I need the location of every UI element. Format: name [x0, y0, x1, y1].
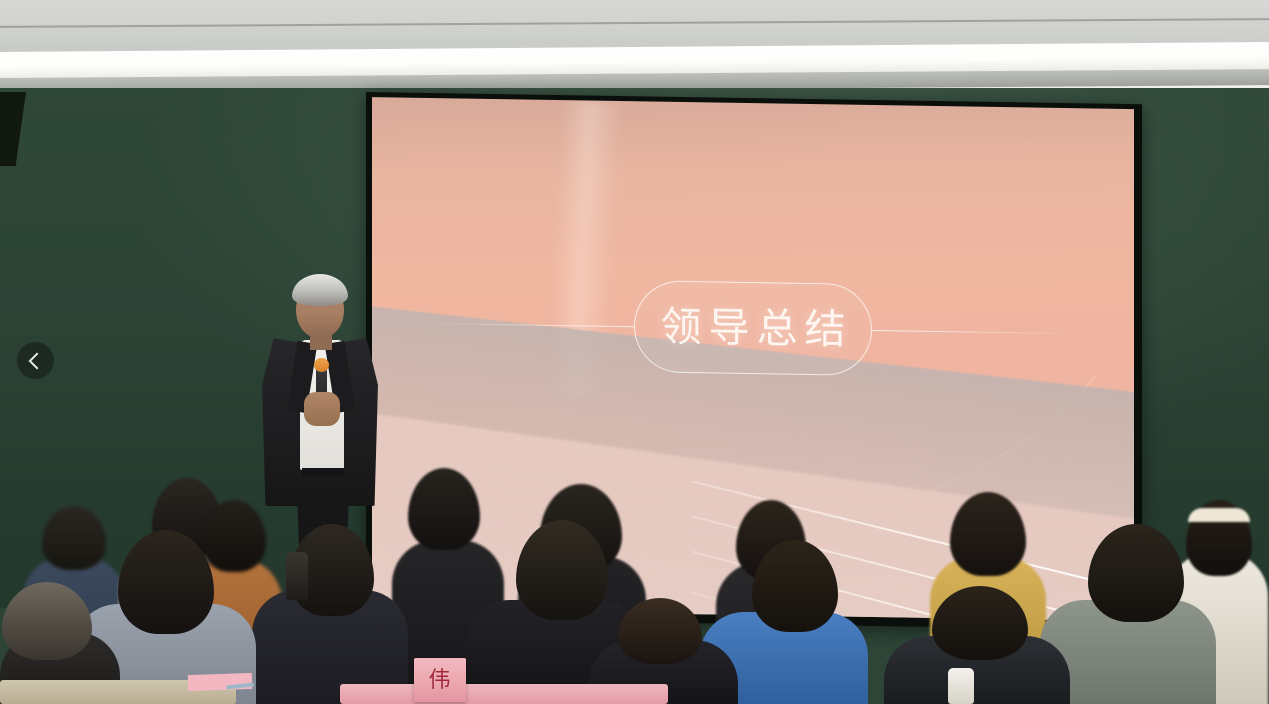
microphone-head [314, 358, 329, 372]
speaker-hands [304, 392, 340, 426]
conference-photo-scene: 领导总结 [0, 0, 1269, 704]
slide-rule-left [429, 322, 634, 326]
slide-title: 领导总结 [654, 306, 853, 350]
slide-rule-right [872, 329, 1077, 333]
name-placard-text: 伟 [428, 669, 451, 691]
thermos-white [948, 668, 974, 704]
slide-title-pill: 领导总结 [634, 280, 872, 376]
prev-slide-button[interactable] [17, 342, 54, 379]
ceiling-seam [0, 18, 1269, 28]
name-placard: 伟 [414, 658, 466, 702]
thermos-dark [286, 552, 308, 600]
headband-accessory [1188, 508, 1250, 522]
chevron-left-icon [29, 352, 46, 369]
slide-title-lockup: 领导总结 [372, 270, 1134, 386]
speaker-belt [302, 468, 344, 476]
audience-table [340, 684, 668, 704]
pink-paper [188, 673, 253, 691]
speaker-hair [292, 274, 348, 306]
